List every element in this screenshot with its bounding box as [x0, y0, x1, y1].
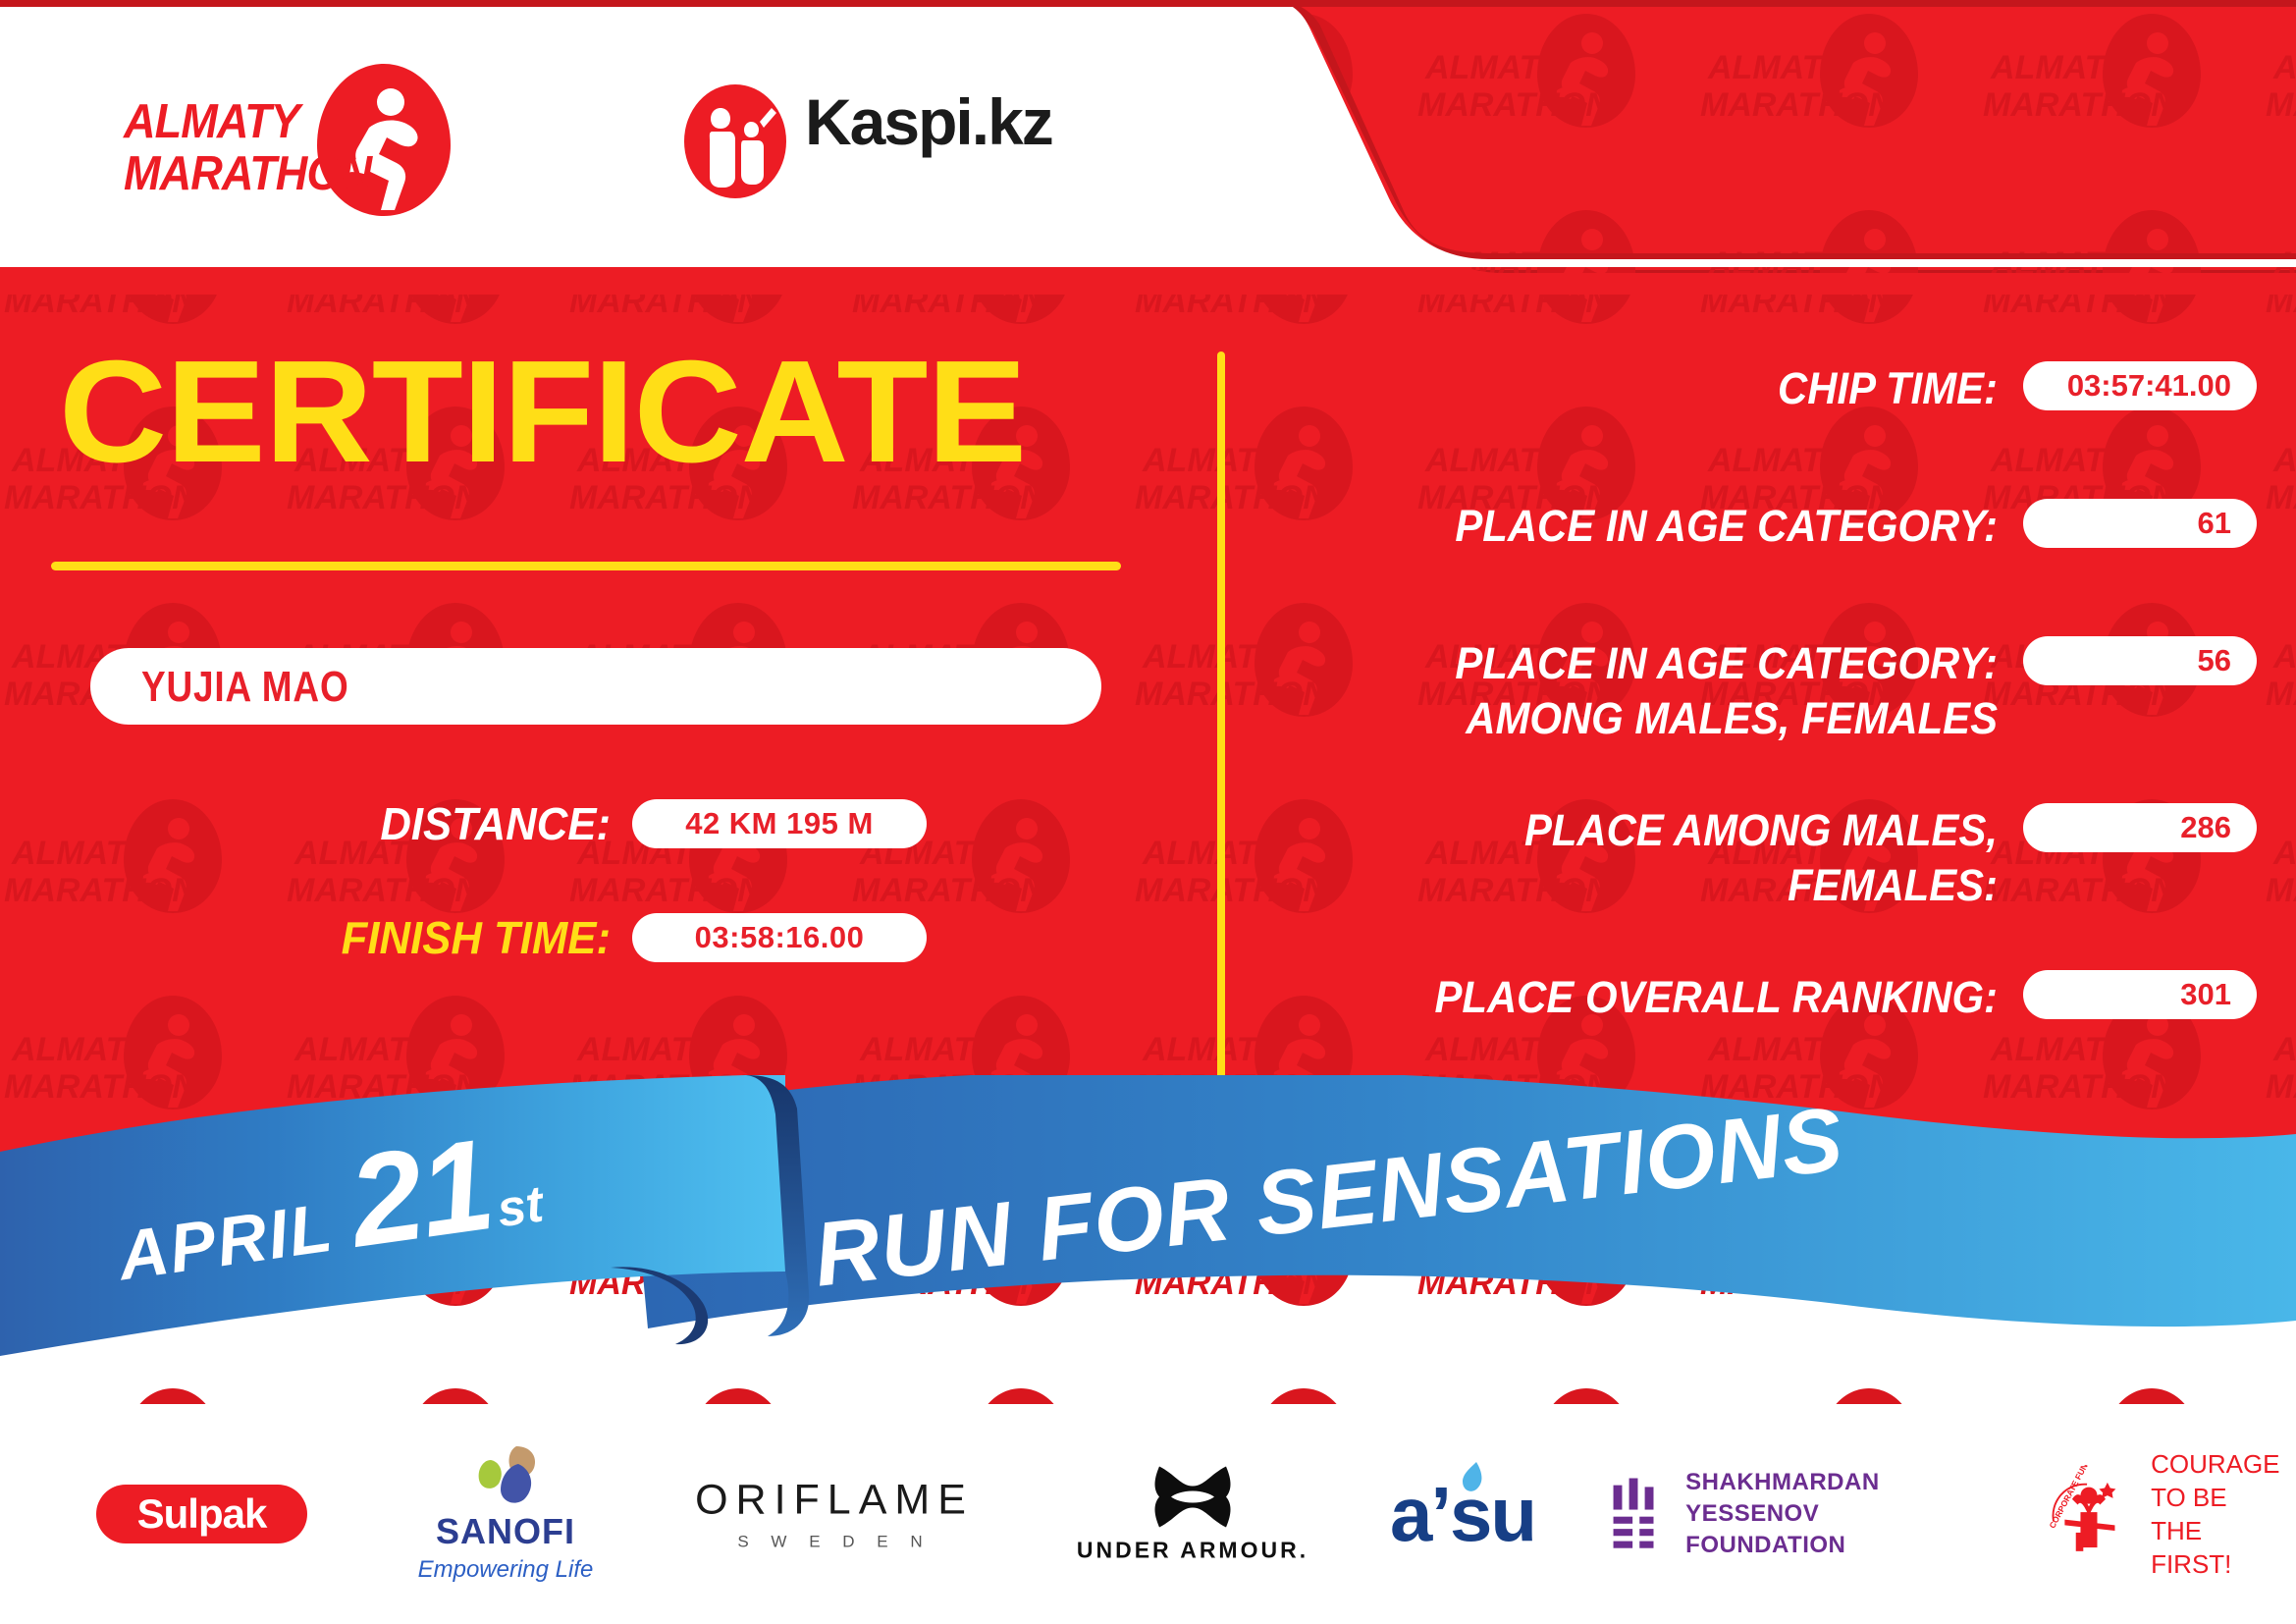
place-age-category-label: PLACE IN AGE CATEGORY:	[1281, 499, 1998, 554]
distance-value: 42 KM 195 M	[632, 799, 927, 848]
sponsor-under-armour: UNDER ARMOUR.	[1065, 1465, 1320, 1564]
sponsor-oriflame: ORIFLAME S W E D E N	[687, 1477, 982, 1552]
oriflame-wordmark: ORIFLAME	[687, 1477, 982, 1525]
stat-row-chip-time: CHIP TIME: 03:57:41.00	[1227, 361, 2296, 416]
sponsor-bar: Sulpak SANOFI Empowering Life ORIFLAME S…	[0, 1404, 2296, 1624]
finish-time-label: FINISH TIME:	[283, 911, 611, 964]
sanofi-tagline: Empowering Life	[393, 1556, 618, 1584]
column-divider	[1217, 352, 1225, 1103]
sanofi-wordmark: SANOFI	[393, 1511, 618, 1552]
stat-row-place-overall: PLACE OVERALL RANKING: 301	[1227, 970, 2296, 1025]
kaspi-logo: Kaspi.kz	[677, 82, 1090, 200]
asu-droplet-icon	[1459, 1460, 1484, 1493]
page-title: CERTIFICATE	[59, 340, 1026, 485]
header-logo-bar: ALMATY MARATHON Kaspi.kz	[0, 0, 1315, 287]
title-underline-rule	[51, 562, 1121, 570]
event-day: 21	[341, 1110, 500, 1275]
athlete-name-field: YUJIA MAO	[90, 648, 1101, 725]
certificate-root: ALMATY MARATHON Kaspi.kz CERTIFICATE YUJ…	[0, 0, 2296, 1624]
event-ribbon: APRIL 21 st RUN FOR SENSATIONS	[0, 1075, 2296, 1399]
sponsor-sulpak: Sulpak	[96, 1485, 307, 1543]
place-overall-label: PLACE OVERALL RANKING:	[1281, 970, 1998, 1025]
event-day-suffix: st	[494, 1174, 547, 1239]
under-armour-wordmark: UNDER ARMOUR.	[1065, 1538, 1320, 1564]
distance-row: DISTANCE: 42 KM 195 M	[265, 797, 927, 850]
sponsor-sanofi: SANOFI Empowering Life	[393, 1444, 618, 1584]
courage-wordmark: COURAGE TO BE THE FIRST!	[2151, 1447, 2282, 1581]
stat-row-place-age-category: PLACE IN AGE CATEGORY: 61	[1227, 499, 2296, 554]
yessenov-wordmark: SHAKHMARDAN YESSENOV FOUNDATION	[1685, 1467, 1983, 1561]
place-age-category-gender-value: 56	[2023, 636, 2257, 685]
sanofi-mark-icon	[461, 1444, 550, 1505]
stat-row-place-among-gender: PLACE AMONG MALES, FEMALES: 286	[1227, 803, 2296, 913]
distance-label: DISTANCE:	[283, 797, 611, 850]
oriflame-sub: S W E D E N	[687, 1533, 982, 1552]
sponsor-courage-to-be-first: CORPORATE FUND COURAGE TO BE THE FIRST!	[2037, 1447, 2282, 1581]
almaty-marathon-wordmark: ALMATY MARATHON	[124, 96, 371, 200]
left-details-column: CERTIFICATE YUJIA MAO	[0, 295, 1193, 1159]
chip-time-label: CHIP TIME:	[1281, 361, 1998, 416]
yessenov-bars-icon	[1610, 1472, 1664, 1556]
stat-row-place-age-category-gender: PLACE IN AGE CATEGORY: AMONG MALES, FEMA…	[1227, 636, 2296, 746]
event-month: APRIL	[113, 1188, 338, 1296]
under-armour-icon	[1134, 1465, 1252, 1530]
kaspi-wordmark: Kaspi.kz	[805, 84, 1052, 159]
finish-time-value: 03:58:16.00	[632, 913, 927, 962]
almaty-marathon-logo: ALMATY MARATHON	[124, 61, 448, 218]
place-among-gender-value: 286	[2023, 803, 2257, 852]
kaspi-people-icon	[677, 82, 793, 200]
chip-time-value: 03:57:41.00	[2023, 361, 2257, 410]
sponsor-yessenov-foundation: SHAKHMARDAN YESSENOV FOUNDATION	[1610, 1467, 1983, 1561]
athlete-name-value: YUJIA MAO	[141, 663, 349, 712]
place-age-category-value: 61	[2023, 499, 2257, 548]
sponsor-asu: aʼsu	[1364, 1476, 1561, 1552]
place-age-category-gender-label: PLACE IN AGE CATEGORY: AMONG MALES, FEMA…	[1281, 636, 1998, 746]
place-overall-value: 301	[2023, 970, 2257, 1019]
place-among-gender-label: PLACE AMONG MALES, FEMALES:	[1281, 803, 1998, 913]
finish-time-row: FINISH TIME: 03:58:16.00	[265, 911, 927, 964]
courage-runner-icon: CORPORATE FUND	[2037, 1465, 2139, 1563]
